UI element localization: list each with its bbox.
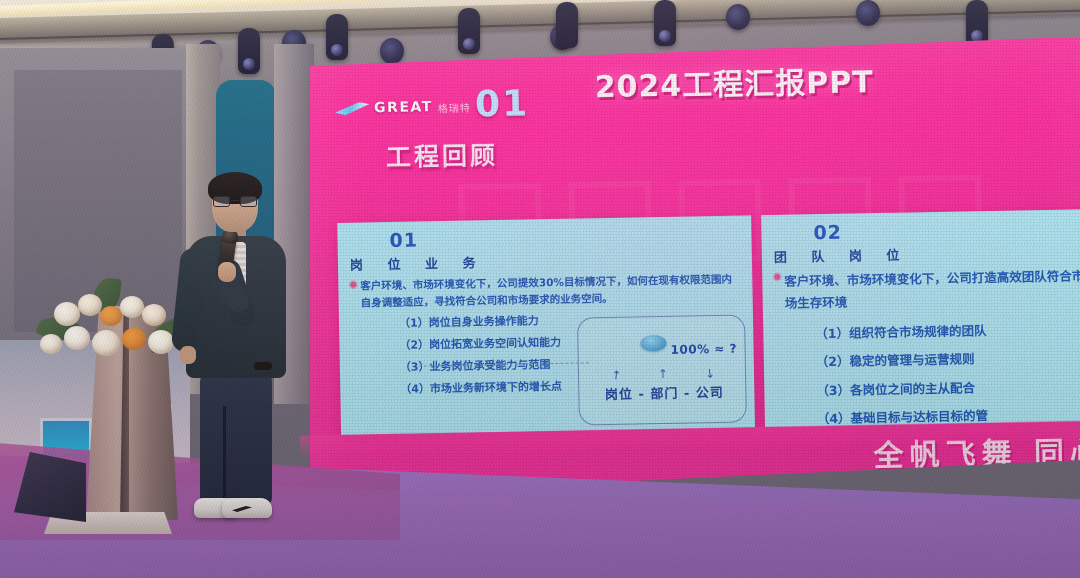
flower-icon	[122, 328, 146, 350]
arrow-up-icon: ↑	[658, 367, 668, 381]
stage-light-icon	[326, 14, 348, 60]
speaker-wristwatch	[254, 362, 272, 370]
speaker-legs	[200, 372, 272, 504]
stage-light-icon	[966, 0, 988, 46]
stage-light-icon	[458, 8, 480, 54]
list-item: （1）组织符合市场规律的团队	[815, 323, 1080, 340]
slide-subtitle: 工程回顾	[386, 136, 499, 174]
panel-number: 02	[813, 219, 1080, 244]
flower-icon	[100, 306, 122, 326]
flower-icon	[64, 326, 90, 350]
list-item: （2）稳定的管理与运营规则	[816, 351, 1080, 368]
glasses-icon	[212, 196, 258, 207]
speaker-leg-split	[223, 406, 226, 502]
flower-icon	[142, 304, 166, 326]
speaker-shoe-right	[222, 498, 272, 518]
glasses-lens-right	[240, 196, 257, 207]
light-lens-icon	[659, 30, 671, 42]
arrow-up-right-icon: ↗	[608, 366, 625, 383]
light-lens-icon	[243, 58, 255, 70]
panel-item-list: （1）组织符合市场规律的团队 （2）稳定的管理与运营规则 （3）各岗位之间的主从…	[775, 323, 1080, 427]
diagram-node-icon	[640, 335, 666, 351]
panel-paragraph-text: 客户环境、市场环境变化下，公司提效30%目标情况下，如何在现有权限范围内自身调整…	[360, 274, 732, 309]
stage-light-icon	[654, 0, 676, 46]
conference-stage-photo: □□□□□ GREAT 格瑞特 01 2024工程汇报PPT 工程回顾 01 岗…	[0, 0, 1080, 578]
flower-icon	[148, 330, 174, 354]
speaker-hand-right	[218, 262, 236, 282]
arrow-down-right-icon: ↘	[701, 365, 717, 382]
diagram-arrows: ↗ ↑ ↘	[593, 366, 733, 383]
slide-section-number: 01	[475, 83, 530, 125]
swoosh-icon	[335, 102, 369, 116]
flower-bullet-icon	[350, 282, 356, 288]
diagram-percent-label: 100% ≈ ?	[670, 342, 737, 357]
brand-cn-name: 格瑞特	[438, 99, 471, 115]
brand-wordmark: GREAT	[374, 99, 433, 116]
diagram-chain-label: 岗位 - 部门 - 公司	[589, 382, 739, 404]
speaker-hand-left	[180, 346, 196, 364]
content-panel-02: 02 团 队 岗 位 客户环境、市场环境变化下，公司打造高效团队符合市场生存环境…	[761, 209, 1080, 427]
slide-title: 2024工程汇报PPT	[594, 57, 874, 106]
light-lens-icon	[463, 38, 475, 50]
list-item: （3）各岗位之间的主从配合	[816, 380, 1080, 397]
flower-icon	[40, 334, 62, 354]
light-lens-icon	[971, 30, 983, 42]
stage-light-icon	[856, 0, 880, 26]
glasses-lens-left	[213, 196, 230, 207]
org-chain-diagram: 100% ≈ ? ↗ ↑ ↘ 岗位 - 部门 - 公司	[577, 314, 747, 425]
flower-icon	[54, 302, 80, 326]
stage-light-icon	[556, 2, 578, 48]
stage-light-icon	[380, 38, 404, 64]
stage-light-icon	[238, 28, 260, 74]
flower-icon	[120, 296, 144, 318]
light-lens-icon	[331, 44, 343, 56]
flower-bullet-icon	[774, 274, 780, 280]
flower-icon	[78, 294, 102, 316]
panel-paragraph: 客户环境、市场环境变化下，公司打造高效团队符合市场生存环境	[774, 265, 1080, 314]
panel-paragraph-text: 客户环境、市场环境变化下，公司打造高效团队符合市场生存环境	[784, 268, 1080, 310]
slide-content-panels: 01 岗 位 业 务 客户环境、市场环境变化下，公司提效30%目标情况下，如何在…	[337, 209, 1080, 435]
content-panel-01: 01 岗 位 业 务 客户环境、市场环境变化下，公司提效30%目标情况下，如何在…	[337, 215, 755, 435]
brand-logo: GREAT 格瑞特	[335, 98, 471, 116]
stage-light-icon	[726, 4, 750, 30]
panel-heading: 团 队 岗 位	[774, 241, 1080, 266]
speaker-person	[176, 176, 296, 548]
glasses-bridge	[231, 200, 239, 201]
shoe-swoosh-icon	[232, 506, 252, 512]
panel-paragraph: 客户环境、市场环境变化下，公司提效30%目标情况下，如何在现有权限范围内自身调整…	[350, 272, 741, 312]
panel-body: 客户环境、市场环境变化下，公司打造高效团队符合市场生存环境 （1）组织符合市场规…	[774, 265, 1080, 426]
flower-icon	[92, 330, 120, 356]
